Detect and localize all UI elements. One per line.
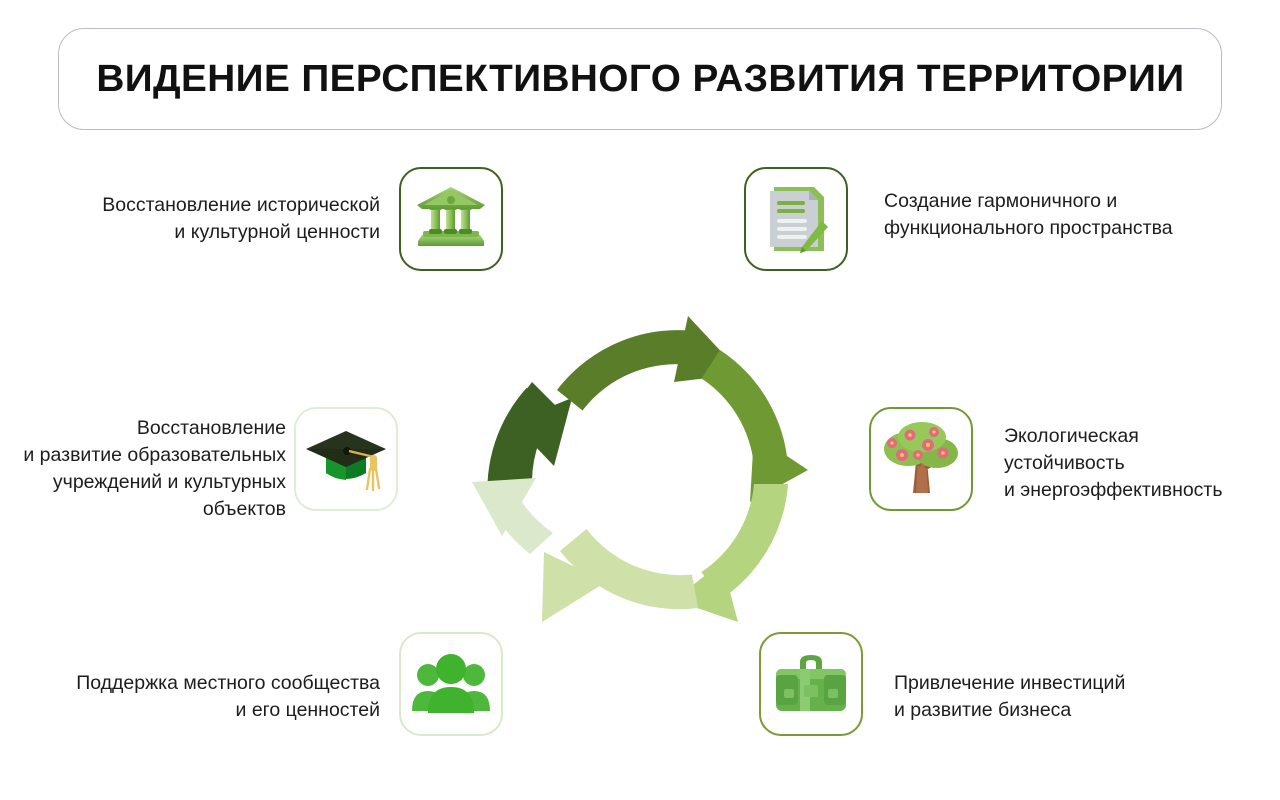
page-title-card: ВИДЕНИЕ ПЕРСПЕКТИВНОГО РАЗВИТИЯ ТЕРРИТОР… bbox=[58, 28, 1222, 130]
bank-building-icon bbox=[414, 185, 488, 253]
cycle-arrow-5 bbox=[542, 529, 698, 622]
cycle-arrow-3 bbox=[702, 350, 809, 502]
icon-tile-space[interactable] bbox=[744, 167, 848, 271]
page-title: ВИДЕНИЕ ПЕРСПЕКТИВНОГО РАЗВИТИЯ ТЕРРИТОР… bbox=[96, 58, 1184, 101]
icon-tile-community[interactable] bbox=[399, 632, 503, 736]
label-heritage: Восстановление исторической и культурной… bbox=[30, 192, 380, 246]
briefcase-icon bbox=[772, 651, 850, 717]
document-pen-icon bbox=[762, 181, 830, 257]
label-ecology: Экологическая устойчивость и энергоэффек… bbox=[1004, 423, 1274, 504]
flowering-tree-icon bbox=[880, 421, 962, 497]
label-education: Восстановление и развитие образовательны… bbox=[8, 415, 286, 523]
people-group-icon bbox=[412, 653, 490, 715]
cycle-arrow-6 bbox=[472, 478, 553, 554]
label-business: Привлечение инвестиций и развитие бизнес… bbox=[894, 670, 1194, 724]
graduation-cap-icon bbox=[304, 427, 388, 491]
icon-tile-education[interactable] bbox=[294, 407, 398, 511]
cycle-diagram bbox=[420, 270, 860, 670]
icon-tile-ecology[interactable] bbox=[869, 407, 973, 511]
icon-tile-business[interactable] bbox=[759, 632, 863, 736]
label-community: Поддержка местного сообщества и его ценн… bbox=[20, 670, 380, 724]
icon-tile-heritage[interactable] bbox=[399, 167, 503, 271]
label-space: Создание гармоничного и функционального … bbox=[884, 188, 1254, 242]
